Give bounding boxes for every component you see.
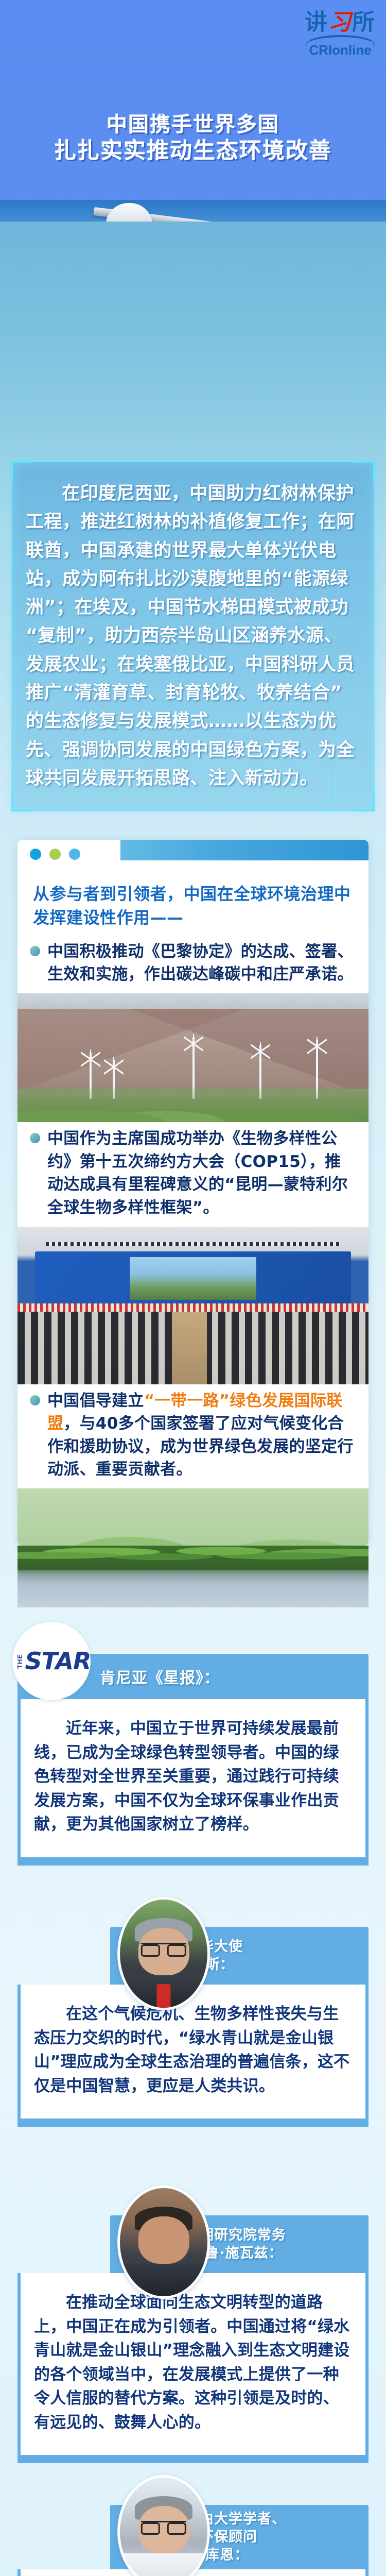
window-dot-lightblue-icon	[69, 849, 80, 860]
star-quote-header: THE STAR 肯尼亚《星报》：	[17, 1654, 369, 1699]
star-quote-source: 肯尼亚《星报》：	[100, 1654, 220, 1699]
brand-logo: 讲习所 CRIonline	[302, 11, 379, 63]
conference-aisle	[172, 1312, 207, 1384]
water-reflection	[17, 1569, 369, 1607]
brand-logo-chinese: 讲习所	[302, 11, 379, 34]
avatar-suit	[120, 2264, 207, 2296]
person-2-quote: 在推动全球面向生态文明转型的道路上，中国正在成为引领者。中国通过将“绿水青山就是…	[17, 2273, 369, 2463]
mangrove-water-photo	[17, 1546, 369, 1607]
portrait-andrew-schwartz	[117, 2185, 210, 2299]
page-title: 中国携手世界多国 扎扎实实推动生态环境改善	[0, 112, 386, 164]
corner-bracket-top-left	[11, 461, 32, 482]
person-3-header: 德国柏林自由大学学者、 欧盟委员会环保顾问 贝特霍尔德·库恩：	[110, 2505, 369, 2569]
conference-led-screen	[35, 1251, 351, 1305]
star-quote-body: 近年来，中国立于世界可持续发展最前线，已成为全球绿色转型领导者。中国的绿色转型对…	[17, 1699, 369, 1866]
brand-char-xi: 习	[328, 10, 352, 35]
glasses-icon	[141, 2521, 186, 2535]
card-titlebar	[17, 840, 369, 869]
foreground-foliage	[17, 1083, 369, 1122]
star-logo-the: THE	[16, 1654, 24, 1669]
governance-bullet-2: 中国作为主席国成功举办《生物多样性公约》第十五次缔约方大会（COP15），推动达…	[17, 1122, 369, 1227]
governance-bullet-3: 中国倡导建立“一带一路”绿色发展国际联盟，与40多个国家签署了应对气候变化合作和…	[17, 1384, 369, 1489]
person-quote-1: 比利时前驻华大使 帕特里克·奈斯： 在这个气候危机、生物多样性丧失与生态压力交织…	[17, 1927, 369, 2127]
person-quote-2: 美国生态文明研究院常务 副院长 安德鲁·施瓦兹： 在推动全球面向生态文明转型的道…	[17, 2215, 369, 2463]
avatar-shirt	[120, 2553, 207, 2576]
intro-paragraph: 在印度尼西亚，中国助力红树林保护工程，推进红树林的补植修复工作；在阿联酋，中国承…	[12, 462, 374, 793]
intro-card: 在印度尼西亚，中国助力红树林保护工程，推进红树林的补植修复工作；在阿联酋，中国承…	[11, 461, 375, 811]
brand-logo-latin: CRIonline	[302, 42, 379, 58]
avatar-face	[138, 2216, 189, 2264]
corner-bracket-top-right	[354, 461, 375, 482]
star-logo-word: STAR	[25, 1647, 91, 1675]
window-dot-blue-icon	[30, 849, 41, 860]
star-quote-block: THE STAR 肯尼亚《星报》： 近年来，中国立于世界可持续发展最前线，已成为…	[17, 1654, 369, 1866]
window-dots	[30, 849, 80, 860]
stage-lighting-rig	[46, 1242, 341, 1246]
person-2-header: 美国生态文明研究院常务 副院长 安德鲁·施瓦兹：	[110, 2215, 369, 2273]
page-title-line-1: 中国携手世界多国	[0, 112, 386, 138]
person-quote-3: 德国柏林自由大学学者、 欧盟委员会环保顾问 贝特霍尔德·库恩： “两山”理念为全…	[17, 2505, 369, 2576]
governance-bullet-2-text: 中国作为主席国成功举办《生物多样性公约》第十五次缔约方大会（COP15），推动达…	[47, 1129, 348, 1217]
governance-heading: 从参与者到引领者，中国在全球环境治理中发挥建设性作用——	[17, 869, 369, 935]
page-title-line-2: 扎扎实实推动生态环境改善	[0, 138, 386, 164]
avatar-tie	[156, 1984, 170, 2008]
glasses-icon	[141, 1943, 186, 1957]
forest-canopy	[17, 1488, 369, 1546]
portrait-patrick-nijs	[117, 1897, 210, 2010]
wind-turbines-photo	[17, 993, 369, 1122]
window-dot-green-icon	[49, 849, 61, 860]
screen-center-image	[130, 1257, 256, 1300]
governance-bullet-1-text: 中国积极推动《巴黎协定》的达成、签署、生效和实施，作出碳达峰碳中和庄严承诺。	[47, 942, 354, 984]
person-1-header: 比利时前驻华大使 帕特里克·奈斯：	[110, 1927, 369, 1985]
brand-char-jiang: 讲	[305, 10, 328, 35]
green-forest-photo	[17, 1488, 369, 1546]
corner-bracket-bottom-left	[11, 791, 32, 811]
governance-bullet-3-text-before: 中国倡导建立	[47, 1392, 144, 1410]
governance-bullet-1: 中国积极推动《巴黎协定》的达成、签署、生效和实施，作出碳达峰碳中和庄严承诺。	[17, 935, 369, 993]
governance-card: 从参与者到引领者，中国在全球环境治理中发挥建设性作用—— 中国积极推动《巴黎协定…	[17, 840, 369, 1546]
brand-char-suo: 所	[352, 10, 376, 35]
hero-banner: 讲习所 CRIonline 中国携手世界多国 扎扎实实推动生态环境改善	[0, 0, 386, 222]
cop15-conference-photo	[17, 1227, 369, 1384]
governance-bullet-3-text-after: ，与40多个国家签署了应对气候变化合作和援助协议，成为世界绿色发展的坚定行动派、…	[47, 1414, 354, 1479]
circuit-decoration-icon	[325, 769, 369, 803]
star-newspaper-logo: THE STAR	[12, 1622, 91, 1700]
mangrove-canopy	[17, 1546, 369, 1570]
